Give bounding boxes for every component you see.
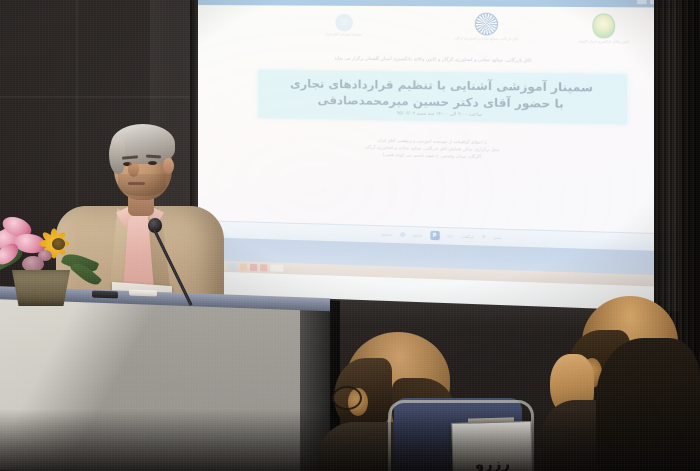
sunflower-center [52, 238, 65, 250]
pdf-icon[interactable] [250, 264, 257, 271]
search-icon[interactable] [400, 232, 405, 237]
speaker-nose [128, 162, 139, 177]
taskbar[interactable]: 7 [196, 260, 680, 287]
toolbar-item-back[interactable]: بازگشت [461, 234, 474, 238]
speaker-ear [163, 158, 174, 174]
presentation-slide: موسسه آموزشی آفاق ایران اتاق بازرگانی، ص… [196, 5, 680, 234]
minimize-icon[interactable] [637, 0, 647, 4]
speaker-mouth [128, 182, 145, 185]
flower-basket [8, 270, 74, 306]
browser-icon[interactable] [230, 263, 237, 270]
speaker-eye-right [148, 161, 157, 165]
chamber-of-commerce-icon [475, 13, 498, 36]
reserved-sign-text: رزرو [475, 457, 511, 471]
glasses-icon [332, 386, 362, 410]
toolbar-item-present[interactable]: ارائه [447, 234, 454, 238]
powerpoint-icon[interactable]: P [430, 231, 439, 241]
paper-sheet [129, 290, 157, 297]
conference-photo-scene: موسسه آموزشی آفاق ایران اتاق بازرگانی، ص… [0, 0, 700, 471]
reserved-sign: رزرو [451, 421, 532, 471]
logo-center-chamber: اتاق بازرگانی، صنایع، معادن و کشاورزی گر… [455, 13, 518, 41]
toolbar-item-view[interactable]: نمایش [413, 233, 423, 237]
projection-screen: موسسه آموزشی آفاق ایران اتاق بازرگانی، ص… [196, 0, 680, 312]
powerpoint-taskbar-icon[interactable] [260, 264, 267, 271]
slide-title-box: سمینار آموزشی آشنایی با تنظیم قراردادهای… [258, 70, 627, 125]
logo-left-icon [335, 14, 352, 31]
bar-association-icon [592, 13, 615, 38]
paint-icon[interactable] [240, 263, 247, 270]
slide-footer: با اعطای گواهینامه از موسسه آموزشی و پژو… [196, 133, 680, 164]
explorer-icon[interactable] [270, 264, 283, 271]
audience-3-body [596, 338, 700, 471]
toolbar-item-search[interactable]: جستجو [382, 232, 393, 236]
speaker-jaw-shadow [118, 174, 166, 196]
toolbar-items[interactable]: جستجو نمایش P ارائه بازگشت ✕ بستن [382, 229, 502, 242]
toolbar-item-close[interactable]: بستن [493, 235, 502, 239]
flower-arrangement [0, 212, 104, 308]
logo-left: موسسه آموزشی آفاق ایران [325, 14, 362, 37]
filler-flower-2 [38, 250, 52, 261]
logo-left-caption: موسسه آموزشی آفاق ایران [325, 32, 362, 36]
audience-member-silhouette [596, 338, 700, 471]
logo-right-caption: کانون وکلای دادگستری استان گلستان [577, 39, 629, 44]
logo-right-bar-association: کانون وکلای دادگستری استان گلستان [577, 13, 629, 44]
podium-desk [0, 290, 330, 471]
close-icon[interactable]: ✕ [482, 234, 486, 240]
slide-logo-row: موسسه آموزشی آفاق ایران اتاق بازرگانی، ص… [196, 11, 680, 62]
logo-center-caption: اتاق بازرگانی، صنایع، معادن و کشاورزی گر… [455, 36, 518, 41]
